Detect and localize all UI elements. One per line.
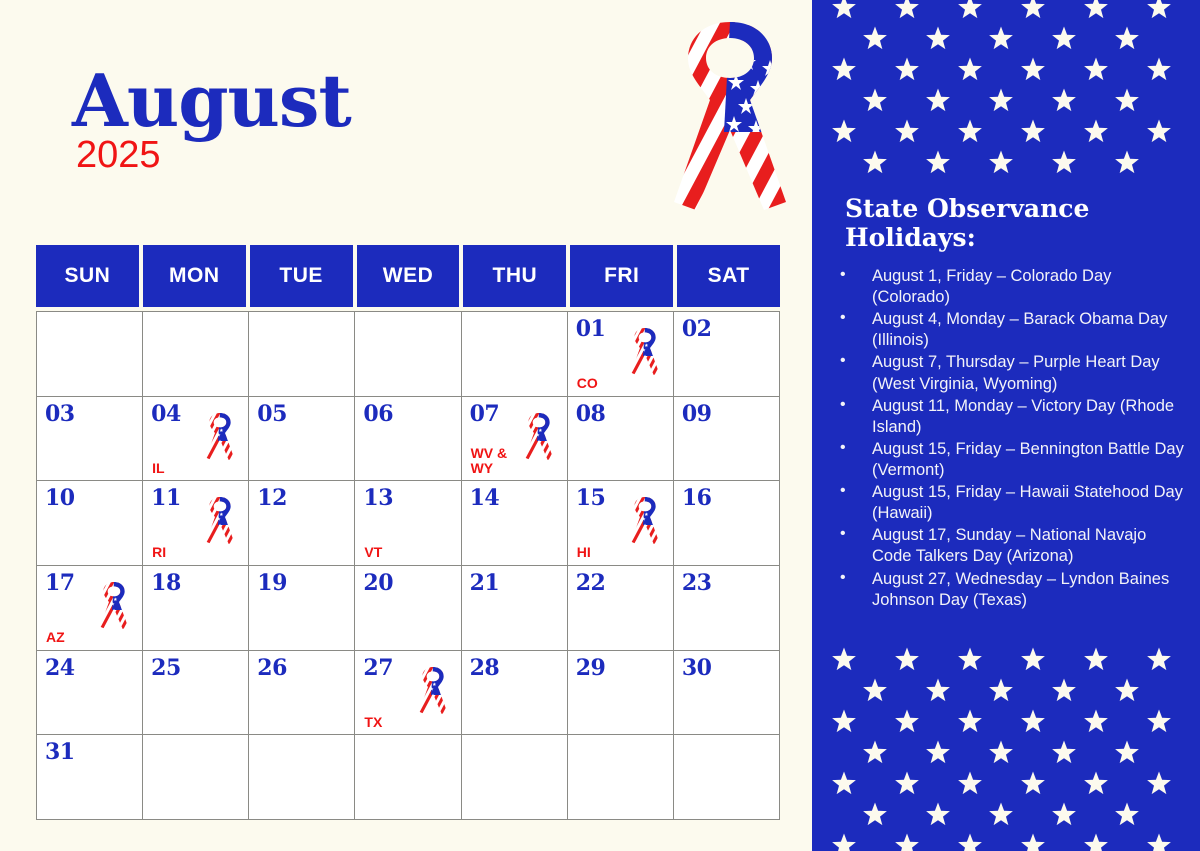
day-number: 24 — [45, 655, 75, 681]
weekday-tue: TUE — [250, 245, 353, 307]
day-cell-empty — [462, 735, 568, 820]
day-cell-empty — [462, 312, 568, 397]
day-cell-17[interactable]: 17AZ — [37, 566, 143, 651]
day-number: 10 — [45, 485, 75, 511]
day-cell-13[interactable]: 13VT — [355, 481, 461, 566]
holiday-list: August 1, Friday – Colorado Day (Colorad… — [836, 266, 1186, 612]
holiday-list-item: August 15, Friday – Hawaii Statehood Day… — [836, 482, 1186, 524]
day-number: 16 — [682, 485, 712, 511]
panel-heading: State Observance Holidays: — [845, 194, 1175, 253]
day-cell-04[interactable]: 04IL — [143, 397, 249, 482]
day-number: 03 — [45, 401, 75, 427]
day-cell-empty — [37, 312, 143, 397]
state-abbrev-label: RI — [152, 545, 166, 560]
holiday-list-item: August 17, Sunday – National Navajo Code… — [836, 525, 1186, 567]
day-cell-01[interactable]: 01CO — [568, 312, 674, 397]
american-flag-ribbon-icon — [629, 495, 661, 547]
weekday-header-row: SUN MON TUE WED THU FRI SAT — [36, 245, 780, 307]
weekday-sun: SUN — [36, 245, 139, 307]
day-cell-03[interactable]: 03 — [37, 397, 143, 482]
weekday-thu: THU — [463, 245, 566, 307]
day-cell-29[interactable]: 29 — [568, 651, 674, 736]
day-number: 23 — [682, 570, 712, 596]
day-cell-14[interactable]: 14 — [462, 481, 568, 566]
day-number: 27 — [363, 655, 393, 681]
holiday-list-item: August 1, Friday – Colorado Day (Colorad… — [836, 266, 1186, 308]
day-number: 06 — [363, 401, 393, 427]
day-cell-18[interactable]: 18 — [143, 566, 249, 651]
weekday-mon: MON — [143, 245, 246, 307]
weekday-wed: WED — [357, 245, 460, 307]
day-cell-26[interactable]: 26 — [249, 651, 355, 736]
day-cell-27[interactable]: 27TX — [355, 651, 461, 736]
day-number: 02 — [682, 316, 712, 342]
day-number: 26 — [257, 655, 287, 681]
day-cell-08[interactable]: 08 — [568, 397, 674, 482]
state-abbrev-label: IL — [152, 461, 164, 476]
day-number: 25 — [151, 655, 181, 681]
day-cell-21[interactable]: 21 — [462, 566, 568, 651]
day-number: 12 — [257, 485, 287, 511]
month-title: August — [72, 68, 351, 134]
day-cell-empty — [568, 735, 674, 820]
day-number: 15 — [576, 485, 606, 511]
day-number: 21 — [470, 570, 500, 596]
american-flag-ribbon-icon — [204, 411, 236, 463]
day-cell-empty — [355, 312, 461, 397]
day-cell-24[interactable]: 24 — [37, 651, 143, 736]
holiday-list-item: August 4, Monday – Barack Obama Day (Ill… — [836, 309, 1186, 351]
day-cell-20[interactable]: 20 — [355, 566, 461, 651]
star-field-icon — [812, 0, 1200, 180]
day-cell-31[interactable]: 31 — [37, 735, 143, 820]
state-abbrev-label: HI — [577, 545, 591, 560]
day-cell-09[interactable]: 09 — [674, 397, 780, 482]
day-number: 07 — [470, 401, 500, 427]
day-number: 04 — [151, 401, 181, 427]
star-field-icon — [812, 632, 1200, 851]
day-number: 17 — [45, 570, 75, 596]
day-cell-22[interactable]: 22 — [568, 566, 674, 651]
day-cell-02[interactable]: 02 — [674, 312, 780, 397]
state-abbrev-label: VT — [364, 545, 382, 560]
american-flag-ribbon-icon — [98, 580, 130, 632]
day-cell-11[interactable]: 11RI — [143, 481, 249, 566]
holiday-list-item: August 7, Thursday – Purple Heart Day (W… — [836, 352, 1186, 394]
day-number: 20 — [363, 570, 393, 596]
weekday-sat: SAT — [677, 245, 780, 307]
day-number: 01 — [576, 316, 606, 342]
holiday-list-item: August 27, Wednesday – Lyndon Baines Joh… — [836, 569, 1186, 611]
day-cell-empty — [249, 312, 355, 397]
day-cell-23[interactable]: 23 — [674, 566, 780, 651]
american-flag-ribbon-icon — [417, 665, 449, 717]
day-cell-empty — [143, 312, 249, 397]
day-cell-07[interactable]: 07WV & WY — [462, 397, 568, 482]
day-cell-30[interactable]: 30 — [674, 651, 780, 736]
state-abbrev-label: AZ — [46, 630, 65, 645]
day-number: 11 — [151, 485, 181, 511]
day-cell-25[interactable]: 25 — [143, 651, 249, 736]
american-flag-ribbon-icon — [204, 495, 236, 547]
american-flag-ribbon-icon — [523, 411, 555, 463]
day-number: 31 — [45, 739, 75, 765]
day-number: 29 — [576, 655, 606, 681]
holiday-list-item: August 11, Monday – Victory Day (Rhode I… — [836, 396, 1186, 438]
day-cell-28[interactable]: 28 — [462, 651, 568, 736]
day-cell-empty — [249, 735, 355, 820]
day-cell-16[interactable]: 16 — [674, 481, 780, 566]
calendar-pane: August 2025 — [0, 0, 812, 851]
day-cell-06[interactable]: 06 — [355, 397, 461, 482]
day-cell-05[interactable]: 05 — [249, 397, 355, 482]
state-abbrev-label: TX — [364, 715, 382, 730]
day-number: 09 — [682, 401, 712, 427]
day-number: 08 — [576, 401, 606, 427]
day-number: 28 — [470, 655, 500, 681]
day-number: 14 — [470, 485, 500, 511]
day-cell-19[interactable]: 19 — [249, 566, 355, 651]
day-number: 19 — [257, 570, 287, 596]
state-abbrev-label: CO — [577, 376, 598, 391]
holiday-list-item: August 15, Friday – Bennington Battle Da… — [836, 439, 1186, 481]
day-number: 13 — [363, 485, 393, 511]
calendar-title-block: August 2025 — [72, 68, 351, 174]
day-cell-empty — [674, 735, 780, 820]
day-number: 22 — [576, 570, 606, 596]
day-cell-10[interactable]: 10 — [37, 481, 143, 566]
day-number: 05 — [257, 401, 287, 427]
day-number: 30 — [682, 655, 712, 681]
day-cell-empty — [143, 735, 249, 820]
day-cell-12[interactable]: 12 — [249, 481, 355, 566]
day-cell-empty — [355, 735, 461, 820]
american-flag-ribbon-icon — [629, 326, 661, 378]
american-flag-ribbon-icon — [664, 12, 796, 222]
day-cell-15[interactable]: 15HI — [568, 481, 674, 566]
weekday-fri: FRI — [570, 245, 673, 307]
calendar-day-grid: 01CO020304IL050607WV & WY08091011RI1213V… — [36, 311, 780, 820]
day-number: 18 — [151, 570, 181, 596]
